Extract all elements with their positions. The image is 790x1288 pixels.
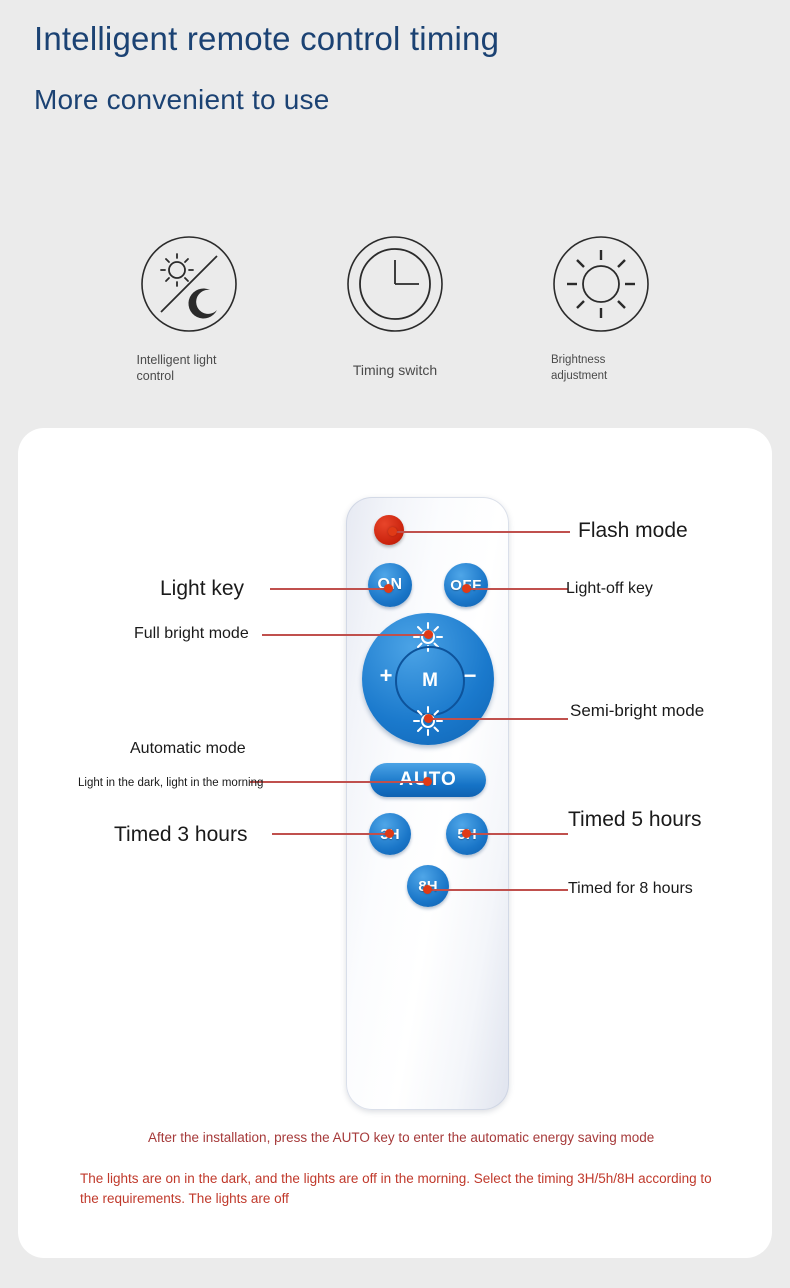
led-dot-auto [423, 777, 432, 786]
led-dot-5h [462, 829, 471, 838]
callout-semi-bright-mode: Semi-bright mode [570, 700, 705, 722]
led-dot-8h [423, 885, 432, 894]
led-dot-on [384, 584, 393, 593]
feature-timing-switch: Timing switch [292, 232, 498, 378]
leader-line-full-bright [262, 634, 430, 636]
leader-line-semi-bright [430, 718, 568, 720]
sun-moon-slash-icon [137, 232, 241, 336]
callout-timed-3-hours: Timed 3 hours [114, 823, 247, 847]
feature-label: Brightness adjustment [551, 352, 651, 384]
callout-light-off-key: Light-off key [566, 580, 653, 598]
page-title: Intelligent remote control timing [34, 18, 654, 59]
heading-block: Intelligent remote control timing More c… [34, 18, 654, 117]
leader-line-timed-5-hours [468, 833, 568, 835]
leader-line-automatic-mode [250, 781, 428, 783]
feature-intelligent-light-control: Intelligent light control [86, 232, 292, 384]
clock-icon [343, 232, 447, 336]
leader-line-timed-3-hours [272, 833, 390, 835]
brightness-down-label[interactable]: − [459, 665, 481, 687]
leader-line-light-key [270, 588, 390, 590]
feature-label: Timing switch [325, 362, 465, 378]
feature-row: Intelligent light control Timing switch [0, 232, 790, 384]
callout-automatic-mode-sub: Light in the dark, light in the morning [78, 777, 263, 789]
callout-automatic-mode: Automatic mode [130, 740, 246, 758]
brightness-up-label[interactable]: + [375, 665, 397, 687]
infographic-page: Intelligent remote control timing More c… [0, 0, 790, 1288]
leader-line-timed-8-hours [428, 889, 568, 891]
led-dot-3h [385, 829, 394, 838]
feature-label: Intelligent light control [137, 352, 242, 384]
leader-line-flash-mode [392, 531, 570, 533]
led-dot-off [462, 584, 471, 593]
led-dot-flash [388, 527, 397, 536]
caption-timing-usage: The lights are on in the dark, and the l… [80, 1169, 716, 1209]
brightness-sun-icon [549, 232, 653, 336]
led-dot-semi-bright [424, 714, 433, 723]
callout-light-key: Light key [160, 577, 244, 601]
page-subtitle: More convenient to use [34, 83, 654, 117]
caption-auto-mode: After the installation, press the AUTO k… [148, 1128, 668, 1148]
callout-timed-8-hours: Timed for 8 hours [568, 880, 693, 898]
callout-timed-5-hours: Timed 5 hours [568, 808, 701, 832]
led-dot-full-bright [424, 630, 433, 639]
leader-line-light-off-key [468, 588, 568, 590]
callout-flash-mode: Flash mode [578, 519, 688, 543]
callout-full-bright-mode: Full bright mode [134, 625, 249, 643]
feature-brightness-adjustment: Brightness adjustment [498, 232, 704, 384]
